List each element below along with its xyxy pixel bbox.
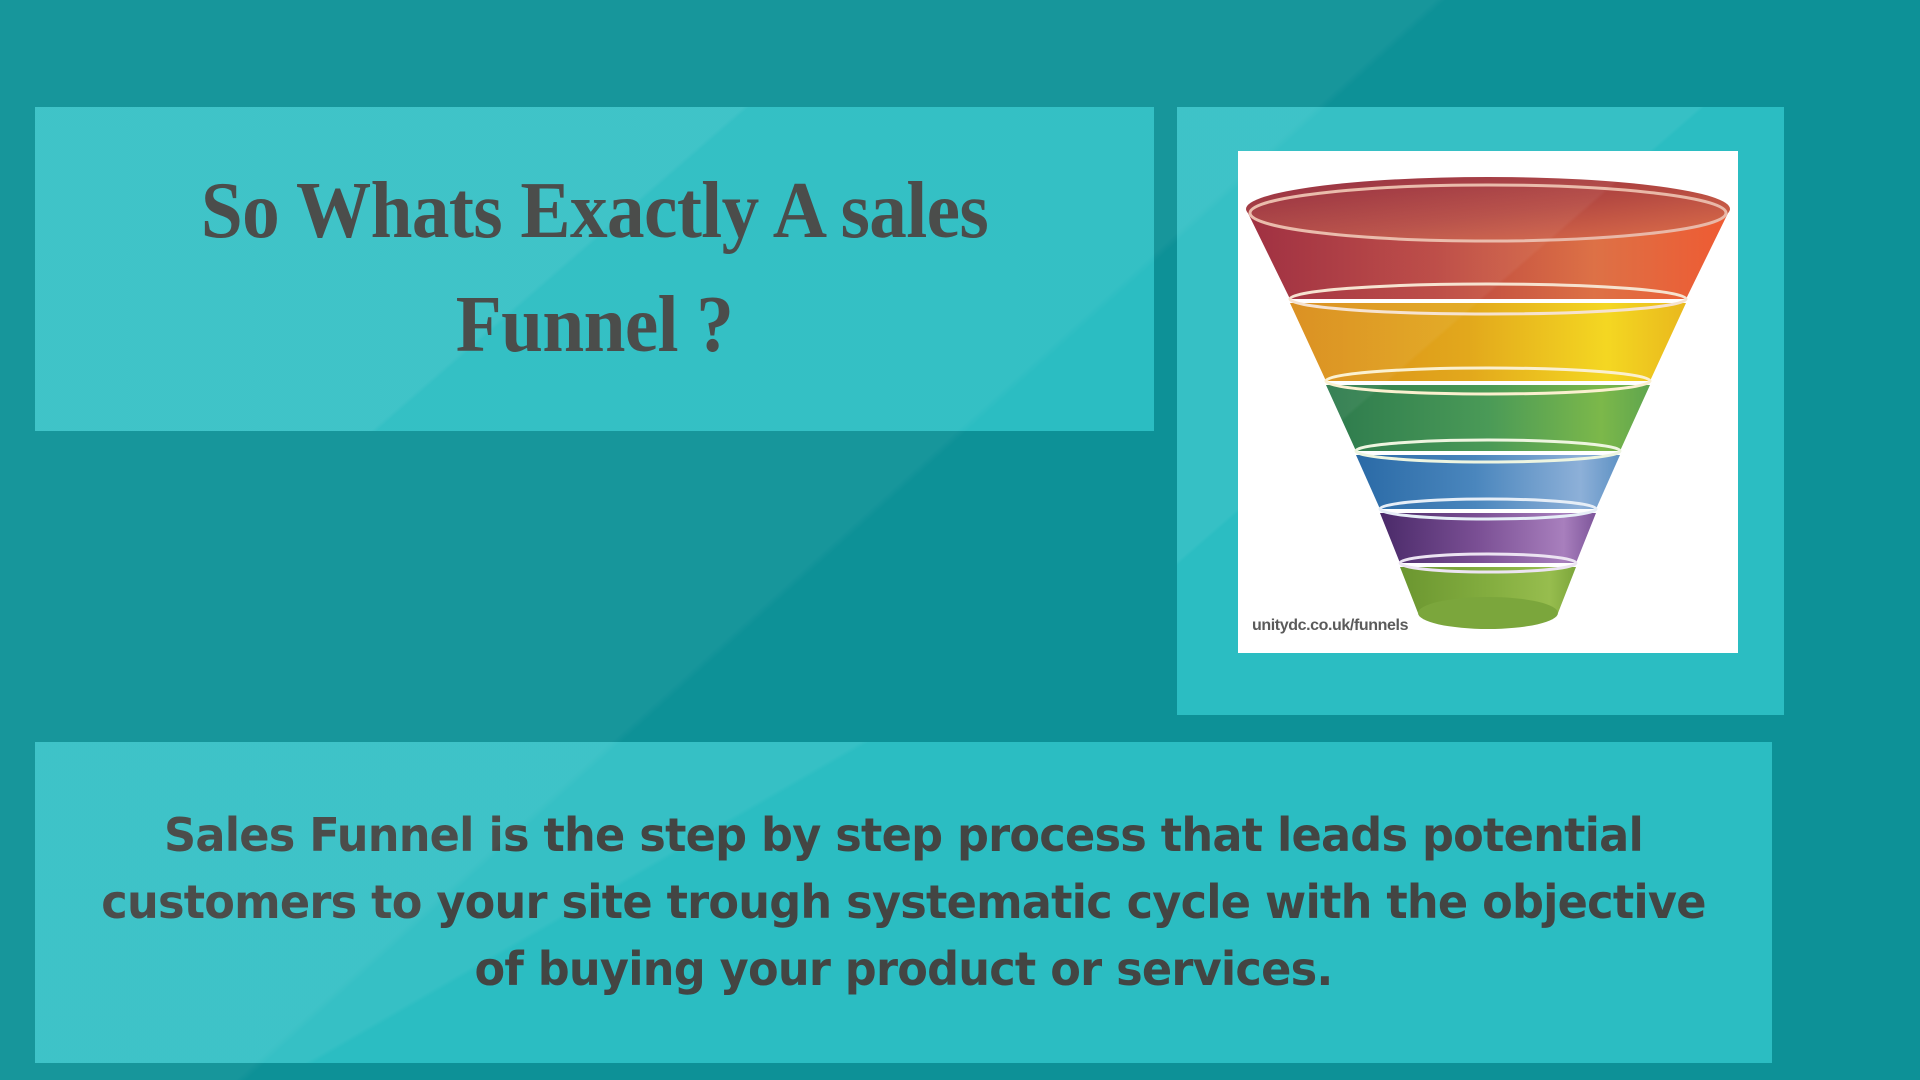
image-watermark: unitydc.co.uk/funnels (1252, 617, 1408, 635)
presentation-slide: So Whats Exactly A sales Funnel ? (0, 0, 1920, 1080)
body-panel: Sales Funnel is the step by step process… (35, 742, 1772, 1063)
page-title: So Whats Exactly A sales Funnel ? (69, 155, 1121, 382)
sales-funnel-icon (1238, 151, 1738, 653)
body-paragraph: Sales Funnel is the step by step process… (61, 802, 1746, 1002)
sales-funnel-image: unitydc.co.uk/funnels (1238, 151, 1738, 653)
image-panel: unitydc.co.uk/funnels (1177, 107, 1784, 715)
title-panel: So Whats Exactly A sales Funnel ? (35, 107, 1154, 431)
